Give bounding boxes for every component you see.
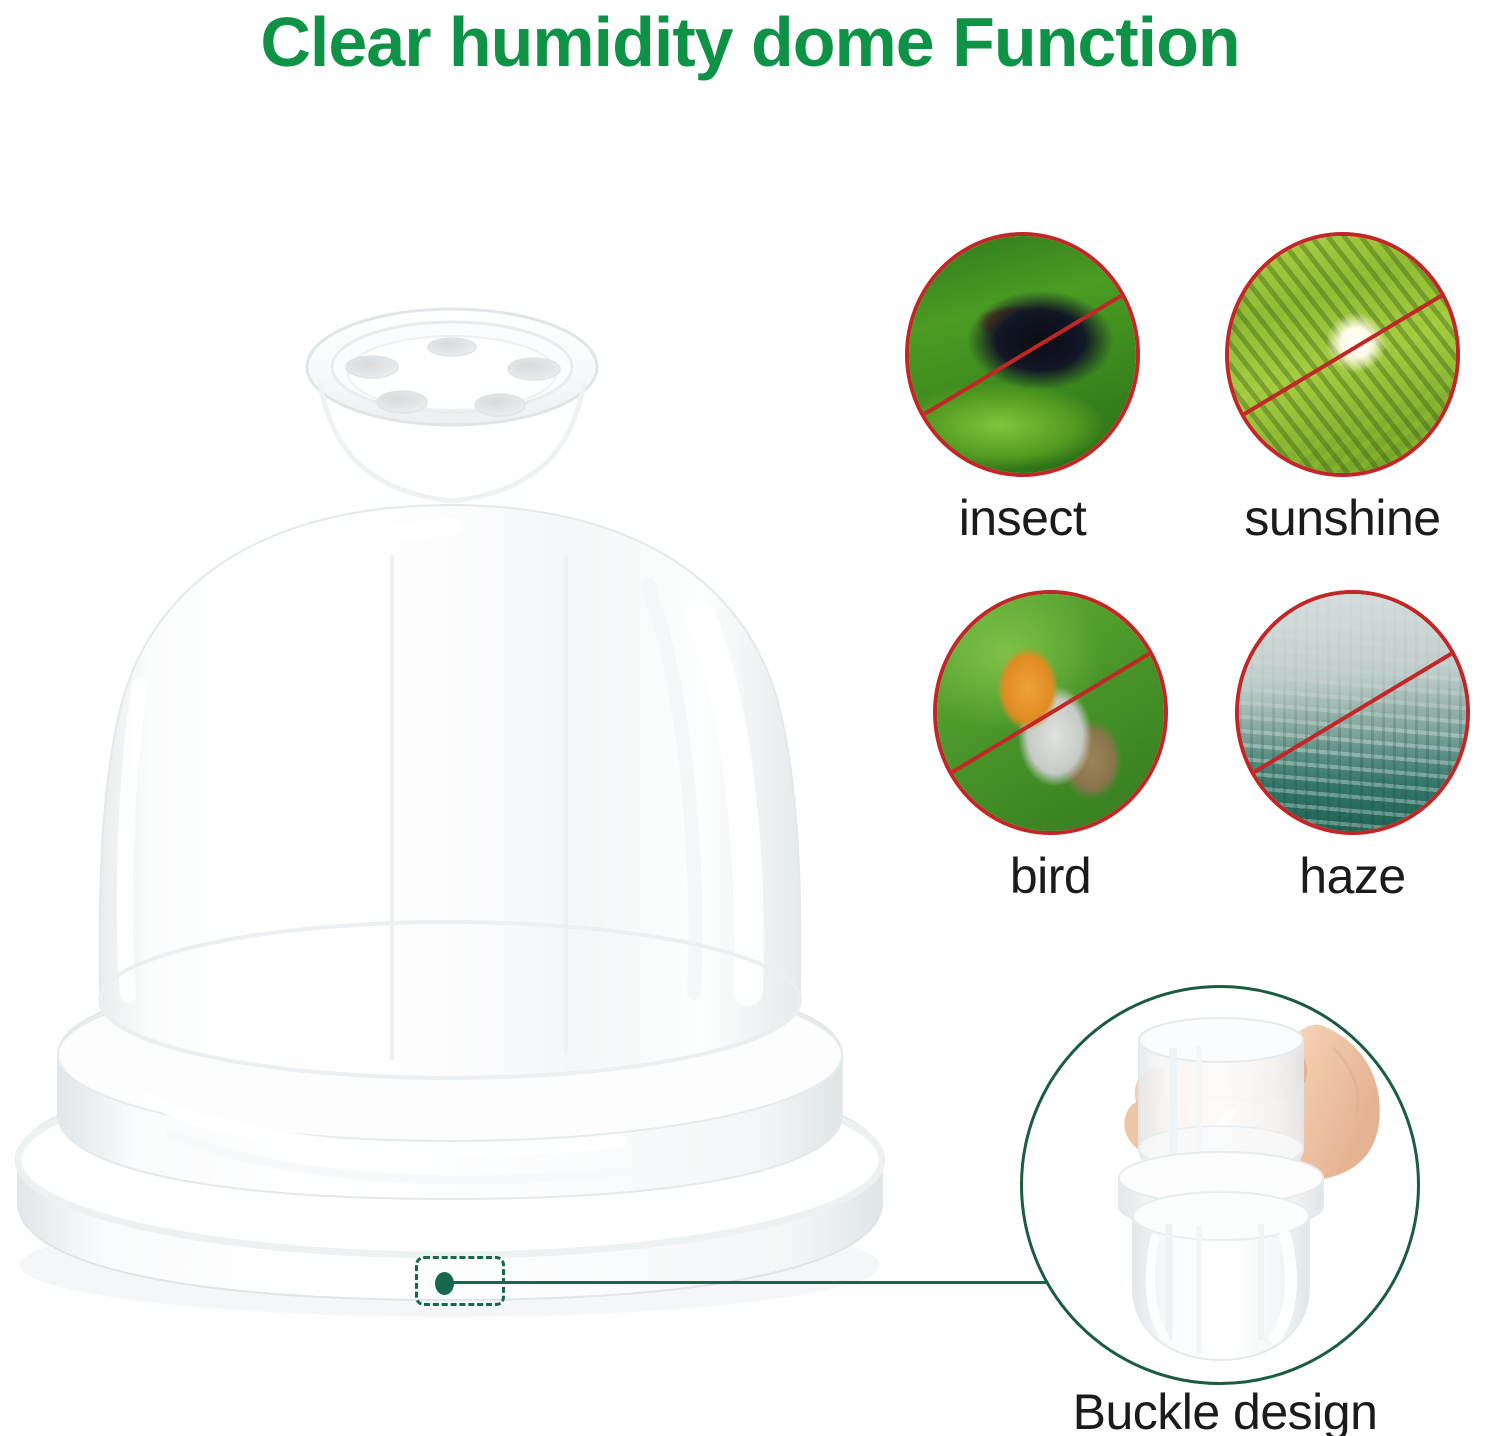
feature-label-bird: bird	[923, 847, 1178, 905]
feature-item-sunshine: sunshine	[1215, 232, 1470, 547]
feature-item-insect: insect	[895, 232, 1150, 547]
feature-label-insect: insect	[895, 489, 1150, 547]
feature-item-haze: haze	[1225, 590, 1480, 905]
buckle-callout-connector	[395, 1240, 1095, 1340]
buckle-detail: Buckle design	[1010, 985, 1500, 1436]
feature-item-bird: bird	[923, 590, 1178, 905]
sunshine-circle	[1225, 232, 1460, 477]
callout-leader-line	[450, 1281, 1060, 1284]
feature-list: insect sunshine bird haze	[895, 232, 1500, 932]
product-image	[0, 255, 900, 1325]
page-title: Clear humidity dome Function	[0, 2, 1500, 82]
haze-circle	[1235, 590, 1470, 835]
buckle-label: Buckle design	[1010, 1383, 1440, 1436]
lower-dome-part	[1119, 1152, 1323, 1360]
bird-circle	[933, 590, 1168, 835]
feature-label-sunshine: sunshine	[1215, 489, 1470, 547]
feature-label-haze: haze	[1225, 847, 1480, 905]
insect-circle	[905, 232, 1140, 477]
buckle-detail-circle	[1020, 985, 1420, 1385]
